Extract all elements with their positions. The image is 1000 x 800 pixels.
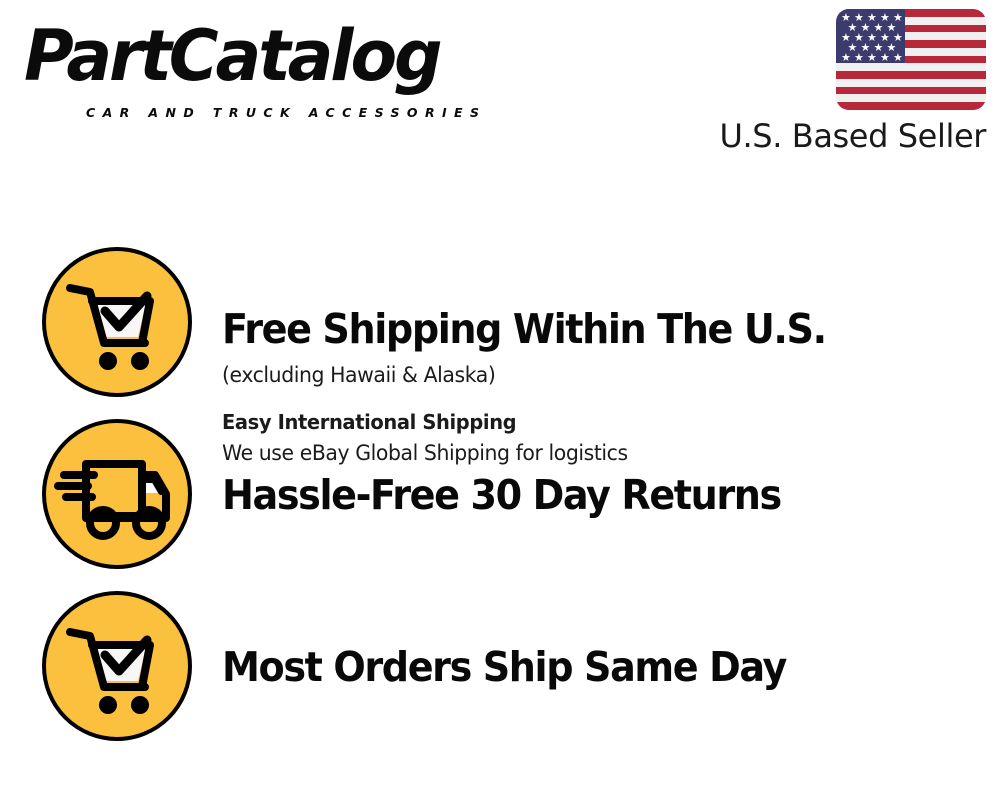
logo-tagline: CAR AND TRUCK ACCESSORIES <box>86 106 486 120</box>
brand-logo[interactable]: PartCatalog CAR AND TRUCK ACCESSORIES <box>24 18 494 116</box>
flag-canton: ★ ★ ★ ★ ★ ★ ★ ★ ★ ★ ★ ★ ★ ★ ★ ★ ★ ★ ★ ★ <box>836 9 905 63</box>
flag-stripe <box>836 71 986 79</box>
feature-text: Free Shipping Within The U.S. (excluding… <box>222 247 982 399</box>
flag-stripe <box>836 102 986 110</box>
us-flag-icon: ★ ★ ★ ★ ★ ★ ★ ★ ★ ★ ★ ★ ★ ★ ★ ★ ★ ★ ★ ★ <box>836 9 986 110</box>
logo-wordmark: PartCatalog <box>24 18 440 94</box>
feature-headline: Free Shipping Within The U.S. <box>222 305 929 353</box>
us-based-seller-label: U.S. Based Seller <box>680 117 986 155</box>
feature-subline: (excluding Hawaii & Alaska) <box>222 361 944 391</box>
flag-star: ★ <box>854 53 863 62</box>
us-seller-badge: ★ ★ ★ ★ ★ ★ ★ ★ ★ ★ ★ ★ ★ ★ ★ ★ ★ ★ ★ ★ <box>836 9 986 110</box>
feature-list: Free Shipping Within The U.S. (excluding… <box>0 175 1000 800</box>
flag-star: ★ <box>841 53 850 62</box>
feature-text: Most Orders Ship Same Day <box>222 591 982 743</box>
flag-star: ★ <box>880 53 889 62</box>
page-header: PartCatalog CAR AND TRUCK ACCESSORIES ★ … <box>0 0 1000 175</box>
feature-headline: Hassle-Free 30 Day Returns <box>222 471 929 519</box>
feature-row: Hassle-Free 30 Day Returns <box>0 419 1000 571</box>
flag-star: ★ <box>893 53 902 62</box>
shopping-cart-check-icon <box>42 591 192 741</box>
feature-headline: Most Orders Ship Same Day <box>222 643 929 691</box>
feature-text: Hassle-Free 30 Day Returns <box>222 419 982 571</box>
feature-row: Most Orders Ship Same Day <box>0 591 1000 743</box>
feature-row: Free Shipping Within The U.S. (excluding… <box>0 247 1000 399</box>
flag-star: ★ <box>867 53 876 62</box>
flag-stripe <box>836 87 986 95</box>
delivery-truck-icon <box>42 419 192 569</box>
shopping-cart-check-icon <box>42 247 192 397</box>
